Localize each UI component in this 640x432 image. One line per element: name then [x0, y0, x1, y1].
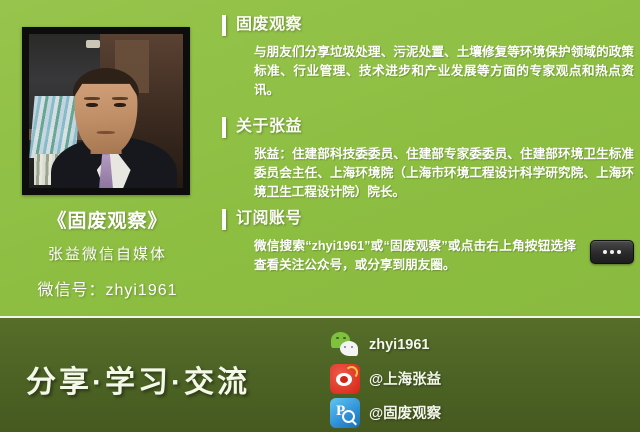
section-marker-icon — [222, 15, 226, 36]
slogan-text: 分享·学习·交流 — [26, 357, 250, 401]
dot-icon — [603, 250, 607, 254]
photo-ceiling-light — [86, 40, 100, 48]
weibo-icon — [330, 364, 360, 394]
section-marker-icon — [222, 209, 226, 230]
baidu-search-icon: P — [330, 398, 360, 428]
section-body-text: 微信搜索“zhyi1961”或“固废观察”或点击右上角按钮选择查看关注公众号，或… — [222, 237, 640, 275]
dot-icon — [610, 250, 614, 254]
section-heading: 固废观察 — [222, 14, 640, 36]
photo-brow-left — [84, 97, 99, 99]
section-marker-icon — [222, 117, 226, 138]
social-links-list: zhyi1961 @上海张益 P @固废观察 — [330, 328, 500, 430]
social-label-wechat: zhyi1961 — [369, 337, 429, 353]
social-row-baidu[interactable]: P @固废观察 — [330, 396, 500, 429]
social-row-weibo[interactable]: @上海张益 — [330, 362, 500, 395]
more-options-button[interactable] — [590, 240, 634, 264]
portrait-frame — [22, 27, 190, 195]
social-row-wechat[interactable]: zhyi1961 — [330, 328, 500, 361]
social-label-weibo: @上海张益 — [369, 368, 441, 389]
section-heading: 关于张益 — [222, 116, 640, 138]
section-subscribe: 订阅账号 微信搜索“zhyi1961”或“固废观察”或点击右上角按钮选择查看关注… — [222, 208, 640, 275]
account-title: 《固废观察》 — [0, 206, 215, 233]
section-about-person: 关于张益 张益：住建部科技委委员、住建部专家委委员、住建部环境卫生标准委员会主任… — [222, 116, 640, 202]
account-subtitle: 张益微信自媒体 — [0, 243, 215, 264]
left-column: 《固废观察》 张益微信自媒体 微信号：zhyi1961 — [0, 0, 215, 316]
section-heading-text: 订阅账号 — [236, 210, 302, 227]
photo-mouth — [97, 131, 115, 134]
social-label-baidu: @固废观察 — [369, 402, 441, 423]
photo-brow-right — [112, 97, 127, 99]
right-column: 固废观察 与朋友们分享垃圾处理、污泥处置、土壤修复等环境保护领域的政策标准、行业… — [222, 0, 640, 316]
section-heading-text: 关于张益 — [236, 118, 302, 135]
section-heading: 订阅账号 — [222, 208, 640, 230]
portrait-photo — [29, 34, 183, 188]
footer-bar: 分享·学习·交流 zhyi1961 @上海张益 P @固废观察 — [0, 316, 640, 432]
section-about-account: 固废观察 与朋友们分享垃圾处理、污泥处置、土壤修复等环境保护领域的政策标准、行业… — [222, 14, 640, 100]
section-heading-text: 固废观察 — [236, 16, 302, 33]
wechat-icon — [330, 330, 360, 360]
dot-icon — [617, 250, 621, 254]
promo-card: 《固废观察》 张益微信自媒体 微信号：zhyi1961 固废观察 与朋友们分享垃… — [0, 0, 640, 432]
section-body-text: 张益：住建部科技委委员、住建部专家委委员、住建部环境卫生标准委员会主任、上海环境… — [222, 145, 640, 202]
wechat-id-text: 微信号：zhyi1961 — [0, 276, 215, 300]
section-body-text: 与朋友们分享垃圾处理、污泥处置、土壤修复等环境保护领域的政策标准、行业管理、技术… — [222, 43, 640, 100]
